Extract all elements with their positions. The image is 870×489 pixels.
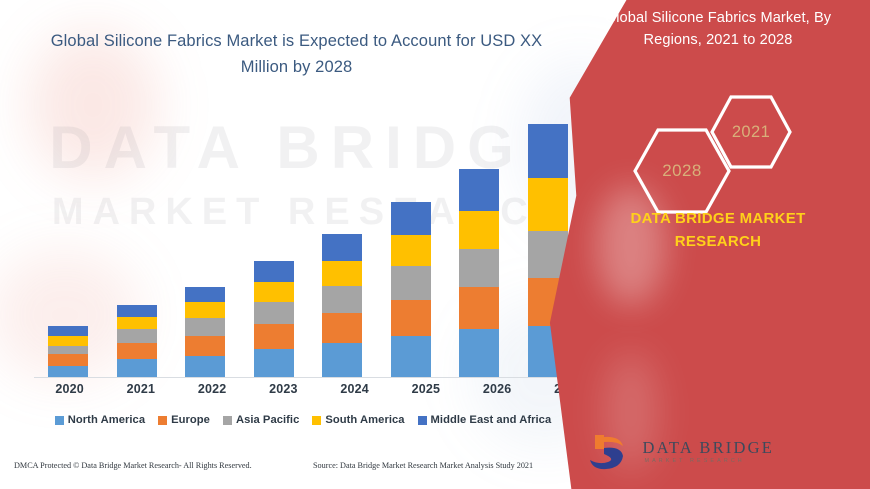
brand-name: DATA BRIDGE MARKET RESEARCH (584, 208, 852, 253)
bar-slot-2024 (308, 100, 377, 378)
bar-slot-2023 (240, 100, 309, 378)
stacked-bar[interactable] (459, 169, 499, 378)
bar-segment (459, 287, 499, 329)
bar-segment (322, 313, 362, 343)
chart-legend: North AmericaEuropeAsia PacificSouth Ame… (18, 414, 588, 426)
stacked-bar[interactable] (48, 326, 88, 378)
x-axis-label: 2025 (390, 382, 461, 396)
logo-title: DATA BRIDGE (642, 440, 774, 457)
brand-line-1: DATA BRIDGE MARKET (584, 208, 852, 231)
bar-segment (117, 343, 157, 359)
brand-line-2: RESEARCH (584, 231, 852, 254)
bar-slot-2021 (103, 100, 172, 378)
bar-segment (48, 346, 88, 355)
bar-segment (391, 336, 431, 378)
bar-segment (528, 326, 568, 378)
bar-segment (185, 336, 225, 356)
legend-swatch (158, 416, 167, 425)
bar-segment (48, 354, 88, 365)
stacked-bar[interactable] (528, 124, 568, 378)
legend-swatch (223, 416, 232, 425)
hexagon-badge-2021-label: 2021 (732, 123, 770, 142)
bar-segment (391, 202, 431, 234)
bar-segment (48, 326, 88, 336)
logo-wordmark: DATA BRIDGE MARKET RESEARCH (642, 440, 774, 465)
bar-slot-2022 (171, 100, 240, 378)
bar-segment (391, 235, 431, 266)
x-axis-label: 2022 (177, 382, 248, 396)
bar-segment (117, 305, 157, 317)
bar-segment (117, 329, 157, 343)
bar-segment (459, 169, 499, 211)
bar-segment (322, 261, 362, 286)
legend-item[interactable]: Middle East and Africa (418, 414, 552, 426)
bar-slot-2020 (34, 100, 103, 378)
x-axis-label: 2026 (462, 382, 533, 396)
bar-segment (185, 356, 225, 378)
bar-slot-2026 (445, 100, 514, 378)
bar-segment (322, 234, 362, 261)
legend-label: Middle East and Africa (431, 414, 552, 426)
legend-item[interactable]: Asia Pacific (223, 414, 299, 426)
legend-swatch (418, 416, 427, 425)
x-axis-label: 2020 (34, 382, 105, 396)
bar-segment (117, 359, 157, 378)
logo-subtitle: MARKET RESEARCH (644, 459, 774, 464)
bar-segment (185, 287, 225, 302)
x-axis-label: 2027 (533, 382, 604, 396)
x-axis-label: 2024 (319, 382, 390, 396)
hexagon-badge-2028-label: 2028 (662, 161, 701, 181)
x-axis-labels: 20202021202220232024202520262027 (34, 382, 604, 396)
bar-segment (528, 178, 568, 232)
hexagon-badge-2021: 2021 (709, 94, 793, 170)
bar-slot-2027 (514, 100, 583, 378)
legend-label: Europe (171, 414, 210, 426)
bar-segment (48, 336, 88, 346)
footer-source: Source: Data Bridge Market Research Mark… (313, 461, 533, 470)
legend-label: South America (325, 414, 404, 426)
legend-label: North America (68, 414, 145, 426)
legend-swatch (312, 416, 321, 425)
bar-slot-2025 (377, 100, 446, 378)
bar-segment (528, 278, 568, 325)
x-axis-label: 2021 (105, 382, 176, 396)
legend-item[interactable]: Europe (158, 414, 210, 426)
x-axis-label: 2023 (248, 382, 319, 396)
bar-segment (322, 286, 362, 313)
stacked-bar-chart (18, 100, 588, 378)
stacked-bar[interactable] (254, 261, 294, 378)
bar-segment (459, 329, 499, 378)
stacked-bar[interactable] (322, 234, 362, 378)
legend-item[interactable]: South America (312, 414, 404, 426)
logo-mark-icon (589, 432, 633, 472)
bar-segment (254, 324, 294, 349)
bar-segment (254, 261, 294, 282)
bar-group (34, 100, 582, 378)
bar-segment (528, 231, 568, 278)
company-logo: DATA BRIDGE MARKET RESEARCH (589, 432, 774, 472)
stacked-bar[interactable] (185, 287, 225, 378)
bar-segment (528, 124, 568, 178)
infographic-canvas: DATA BRIDGE MARKET RESEARCH Global Silic… (0, 0, 870, 489)
stacked-bar[interactable] (391, 202, 431, 378)
chart-plot-area (34, 100, 582, 378)
legend-item[interactable]: North America (55, 414, 145, 426)
bar-segment (185, 318, 225, 335)
bar-segment (391, 300, 431, 336)
bar-segment (117, 317, 157, 329)
panel-title: Global Silicone Fabrics Market, By Regio… (580, 8, 856, 52)
bar-segment (322, 343, 362, 378)
bar-segment (459, 249, 499, 288)
legend-swatch (55, 416, 64, 425)
footer-copyright: DMCA Protected © Data Bridge Market Rese… (14, 461, 252, 470)
bar-segment (185, 302, 225, 318)
stacked-bar[interactable] (117, 305, 157, 378)
bar-segment (254, 302, 294, 324)
bar-segment (254, 282, 294, 302)
bar-segment (459, 211, 499, 248)
page-title: Global Silicone Fabrics Market is Expect… (44, 28, 549, 80)
x-axis-line (34, 377, 582, 378)
bar-segment (254, 349, 294, 378)
legend-label: Asia Pacific (236, 414, 299, 426)
bar-segment (391, 266, 431, 300)
